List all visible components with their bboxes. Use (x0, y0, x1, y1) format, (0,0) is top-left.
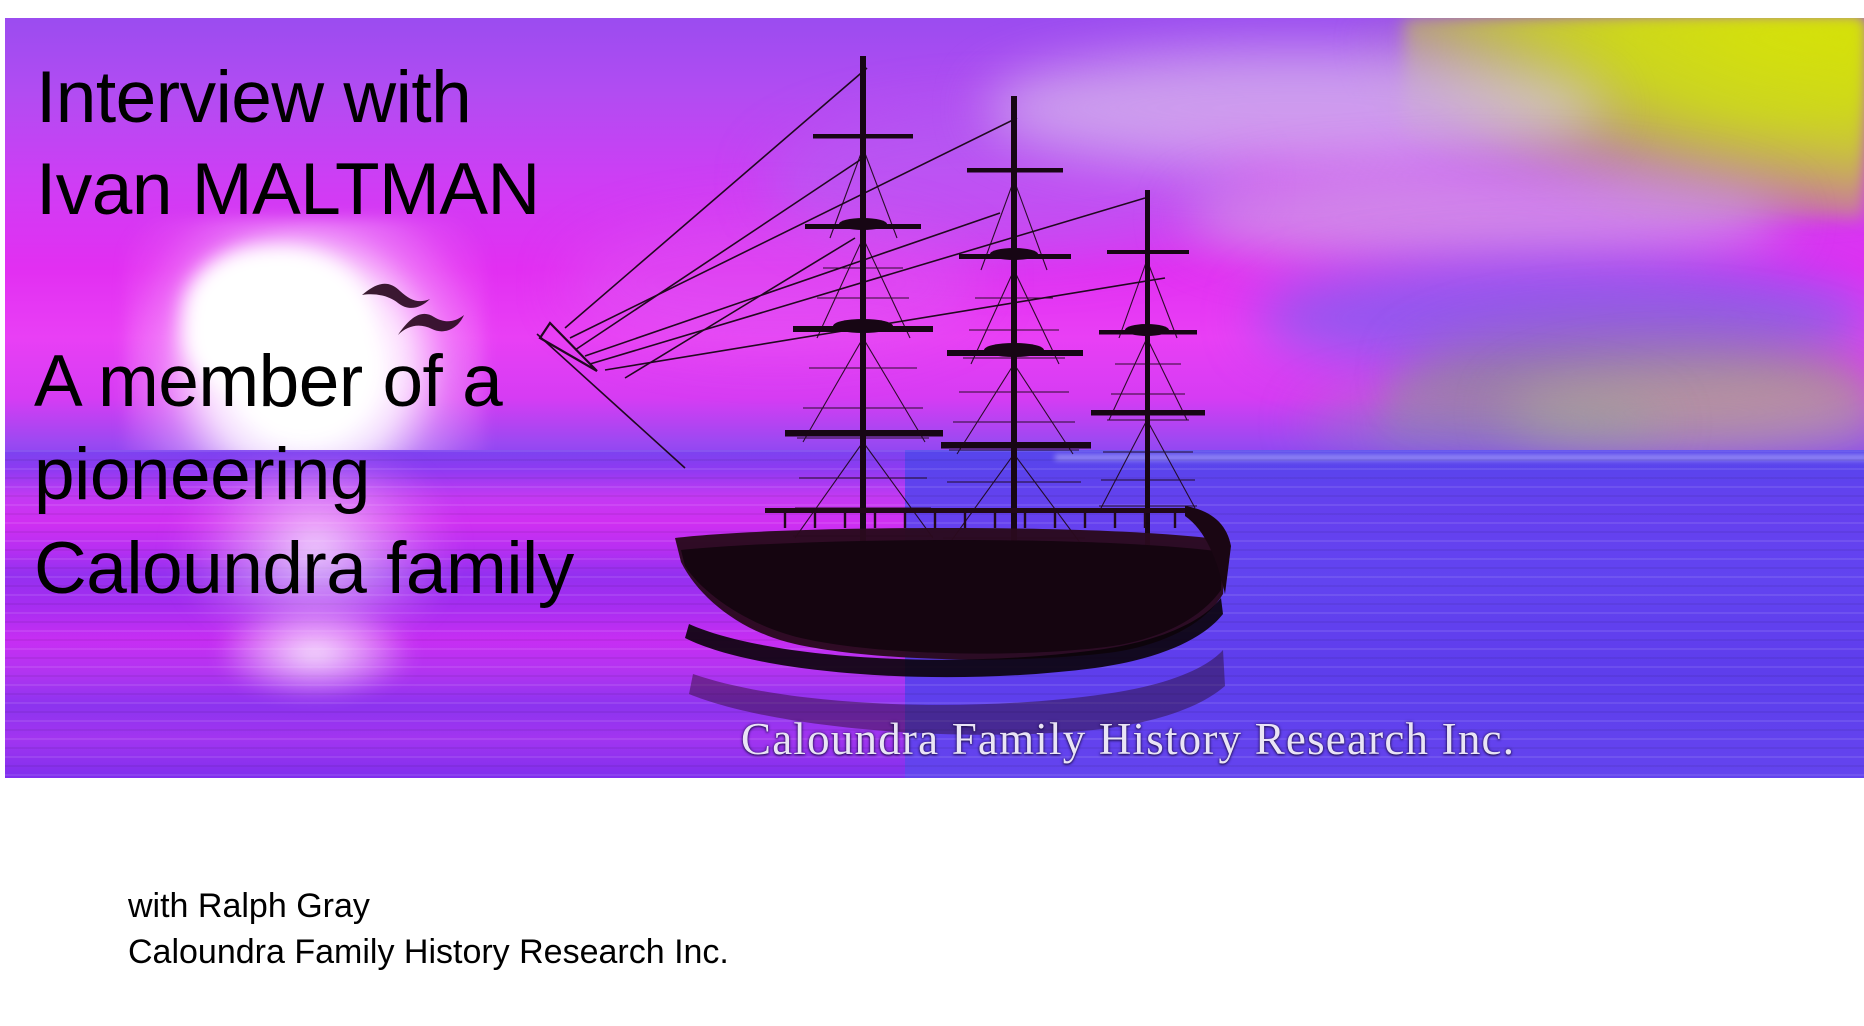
title-line-2: Ivan MALTMAN (36, 144, 676, 236)
distant-land-haze (1385, 348, 1864, 448)
image-watermark: Caloundra Family History Research Inc. (741, 713, 1515, 765)
caption-line-2: Caloundra Family History Research Inc. (128, 930, 729, 976)
subtitle-line-2: pioneering (34, 428, 694, 521)
title-line-1: Interview with (36, 52, 676, 144)
page-subtitle: A member of a pioneering Caloundra famil… (34, 335, 694, 615)
presenter-caption: with Ralph Gray Caloundra Family History… (128, 884, 729, 976)
subtitle-line-3: Caloundra family (34, 522, 694, 615)
sky-yellow-wash (1404, 18, 1864, 218)
slide-canvas: Caloundra Family History Research Inc. I… (0, 0, 1864, 1026)
sailing-ship-icon (645, 38, 1265, 718)
caption-line-1: with Ralph Gray (128, 884, 729, 930)
subtitle-line-1: A member of a (34, 335, 694, 428)
page-title: Interview with Ivan MALTMAN (36, 52, 676, 236)
